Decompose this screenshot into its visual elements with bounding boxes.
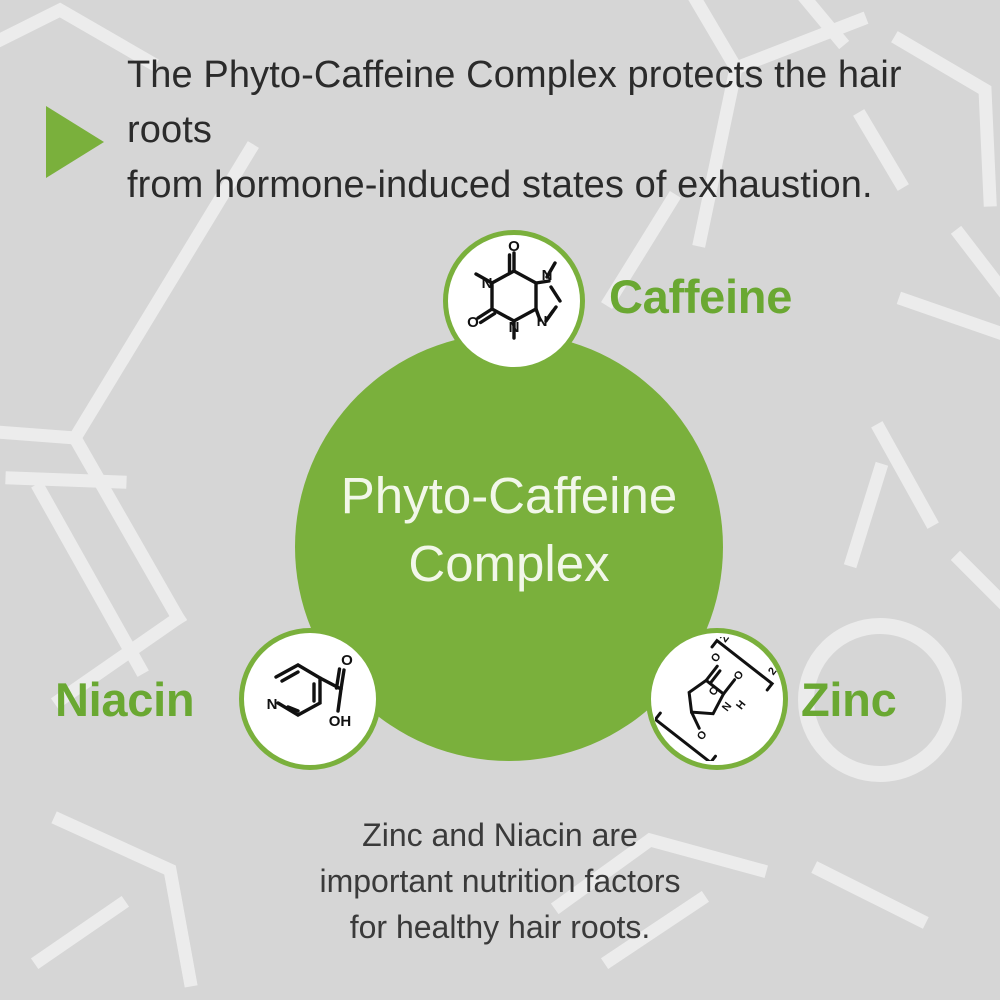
atom-label-N: N (509, 319, 520, 336)
atom-label-N: N (267, 696, 278, 713)
zinc-complex-molecule-icon: O N H O C O Zn 2 (655, 637, 779, 761)
caption-line-1: Zinc and Niacin are (0, 812, 1000, 858)
center-label-line-1: Phyto-Caffeine (295, 462, 723, 530)
caption-line-3: for healthy hair roots. (0, 904, 1000, 950)
niacin-molecule-icon: N O OH (248, 637, 372, 761)
caffeine-label: Caffeine (609, 269, 792, 324)
caffeine-molecule-node: O O N N N N (443, 230, 585, 372)
center-label: Phyto-Caffeine Complex (295, 462, 723, 598)
headline-line-1: The Phyto-Caffeine Complex protects the … (127, 48, 967, 158)
atom-label-N: N (542, 267, 553, 284)
infographic-canvas: The Phyto-Caffeine Complex protects the … (0, 0, 1000, 1000)
atom-label-O: O (341, 652, 353, 669)
header-block: The Phyto-Caffeine Complex protects the … (0, 48, 1000, 168)
caption-line-2: important nutrition factors (0, 858, 1000, 904)
center-label-line-2: Complex (295, 530, 723, 598)
atom-label-N: N (720, 700, 734, 714)
zinc-molecule-node: O N H O C O Zn 2 (646, 628, 788, 770)
atom-label-O: O (508, 239, 520, 255)
zinc-label: Zinc (801, 672, 896, 727)
atom-label-H: H (734, 698, 748, 712)
atom-label-N: N (537, 313, 548, 330)
niacin-label: Niacin (55, 672, 194, 727)
atom-label-OH: OH (329, 713, 352, 730)
atom-label-N: N (482, 275, 493, 292)
niacin-molecule-node: N O OH (239, 628, 381, 770)
headline-line-2: from hormone-induced states of exhaustio… (127, 158, 967, 213)
caffeine-molecule-icon: O O N N N N (452, 239, 576, 363)
atom-label-O: O (695, 728, 710, 742)
atom-label-O: O (709, 650, 724, 664)
atom-label-O: O (467, 314, 479, 331)
atom-label-C: C (707, 685, 721, 699)
caption-text: Zinc and Niacin are important nutrition … (0, 812, 1000, 950)
triangle-right-icon (46, 106, 104, 178)
subscript-2: 2 (766, 665, 779, 677)
headline-text: The Phyto-Caffeine Complex protects the … (127, 48, 967, 213)
